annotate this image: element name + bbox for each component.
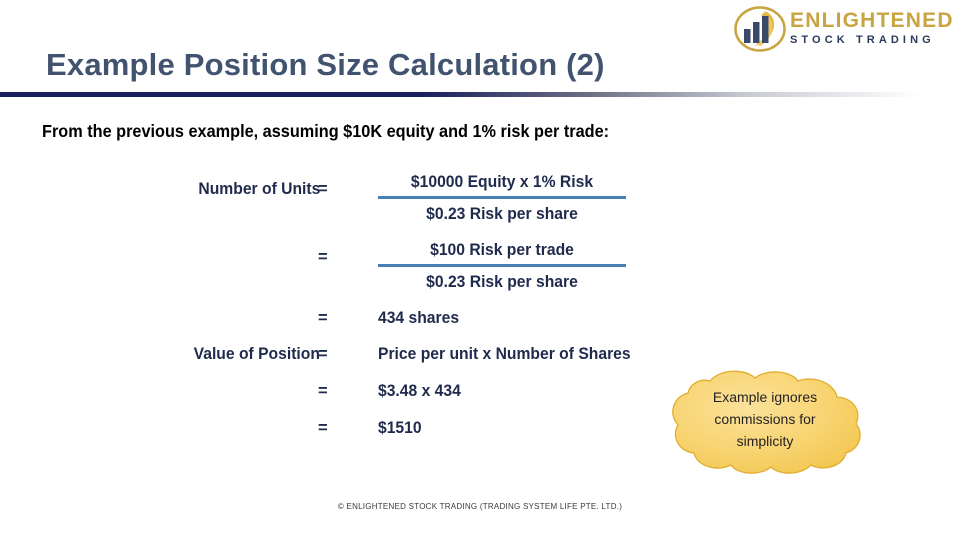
brand-name-primary: ENLIGHTENED [790,10,954,31]
copyright-footer: © ENLIGHTENED STOCK TRADING (TRADING SYS… [0,502,960,511]
equals-sign: = [318,419,328,438]
equals-sign: = [318,345,328,364]
equals-sign: = [318,382,328,401]
cloud-callout: Example ignores commissions for simplici… [645,368,885,476]
fraction-bar [378,196,626,199]
brand-name-secondary: STOCK TRADING [790,33,954,47]
fraction-numerator: $100 Risk per trade [384,238,620,262]
cloud-line-2: commissions for [679,408,851,430]
subtitle-text: From the previous example, assuming $10K… [42,121,609,142]
bar-chart-circle-logo-icon [734,6,786,52]
cloud-callout-text: Example ignores commissions for simplici… [679,386,851,452]
slide-canvas: ENLIGHTENED STOCK TRADING Example Positi… [0,0,960,540]
fraction-numerator: $10000 Equity x 1% Risk [384,170,620,194]
formula-value: $1510 [378,419,422,438]
formula-value: Price per unit x Number of Shares [378,345,631,364]
formula-value: $3.48 x 434 [378,382,461,401]
equals-sign: = [318,309,328,328]
formula-label: Number of Units [198,180,320,199]
cloud-line-3: simplicity [679,430,851,452]
formula-label: Value of Position [194,345,320,364]
cloud-line-1: Example ignores [679,386,851,408]
fraction: $10000 Equity x 1% Risk $0.23 Risk per s… [378,170,626,226]
equals-sign: = [318,248,328,267]
title-divider [0,92,960,97]
fraction: $100 Risk per trade $0.23 Risk per share [378,238,626,294]
fraction-denominator: $0.23 Risk per share [384,202,620,226]
page-title: Example Position Size Calculation (2) [46,47,605,83]
fraction-denominator: $0.23 Risk per share [384,270,620,294]
brand-logo: ENLIGHTENED STOCK TRADING [728,4,956,54]
equals-sign: = [318,180,328,199]
formula-value: 434 shares [378,309,459,328]
brand-wordmark: ENLIGHTENED STOCK TRADING [790,10,954,47]
fraction-bar [378,264,626,267]
